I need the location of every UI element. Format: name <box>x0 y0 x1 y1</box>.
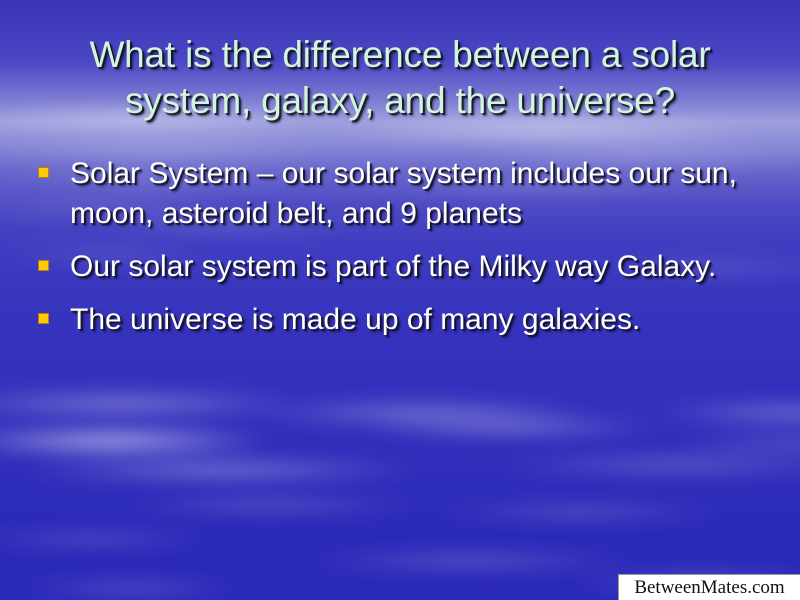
presentation-slide: What is the difference between a solar s… <box>0 0 800 600</box>
list-item: The universe is made up of many galaxies… <box>30 300 775 340</box>
slide-title: What is the difference between a solar s… <box>30 32 770 124</box>
list-item-label: Solar System – our solar system includes… <box>70 157 737 230</box>
square-bullet-icon <box>38 167 49 178</box>
slide-bullet-list: Solar System – our solar system includes… <box>30 154 775 353</box>
square-bullet-icon <box>38 313 49 324</box>
square-bullet-icon <box>38 260 49 271</box>
list-item-label: Our solar system is part of the Milky wa… <box>70 250 716 283</box>
watermark-badge: BetweenMates.com <box>618 574 800 600</box>
watermark-label: BetweenMates.com <box>634 576 784 600</box>
list-item: Solar System – our solar system includes… <box>30 154 775 234</box>
list-item-label: The universe is made up of many galaxies… <box>70 303 640 336</box>
list-item: Our solar system is part of the Milky wa… <box>30 247 775 287</box>
